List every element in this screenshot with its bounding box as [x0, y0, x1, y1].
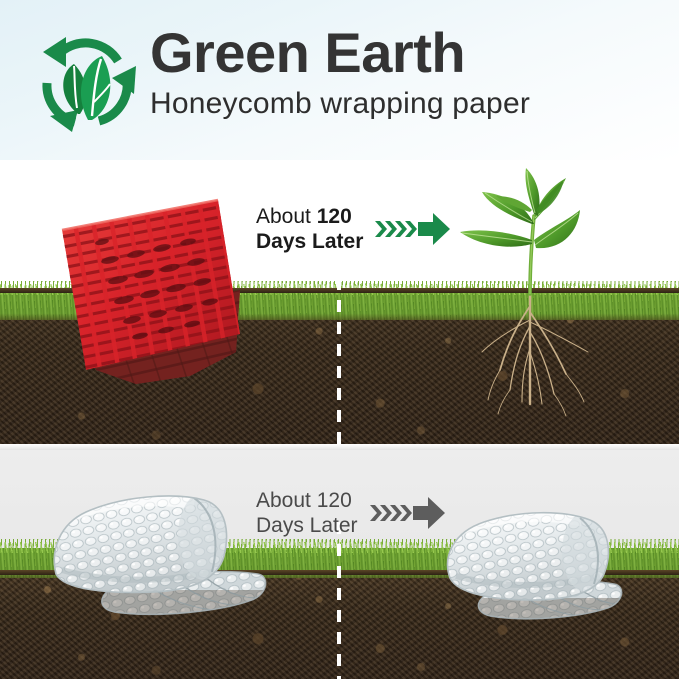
callout-plastic: About 120 Days Later	[256, 488, 446, 538]
callout-days-number-plastic: 120	[317, 489, 352, 512]
callout-prefix-plastic: About	[256, 489, 317, 512]
recycle-leaves-icon	[30, 28, 142, 140]
page-subtitle: Honeycomb wrapping paper	[150, 84, 670, 124]
green-chevron-arrow-icon	[375, 209, 451, 249]
callout-biodegradable: About 120 Days Later	[256, 204, 451, 254]
panel-plastic: About 120 Days Later	[0, 450, 679, 679]
callout-days-number: 120	[317, 205, 352, 228]
green-seedling-plant	[452, 166, 662, 298]
dashed-vertical-divider-top	[337, 278, 341, 448]
callout-line-2: Days Later	[256, 229, 363, 254]
panel-biodegradable: About 120 Days Later	[0, 160, 679, 448]
callout-line-1-plastic: About 120	[256, 488, 358, 513]
page-title: Green Earth	[150, 22, 670, 84]
brand-lockup: Green Earth Honeycomb wrapping paper	[28, 22, 658, 142]
red-honeycomb-wrapping-paper	[40, 184, 260, 414]
callout-prefix: About	[256, 205, 317, 228]
plastic-bubble-wrap-roll-right	[428, 494, 660, 630]
infographic-page: Green Earth Honeycomb wrapping paper	[0, 0, 679, 679]
title-block: Green Earth Honeycomb wrapping paper	[150, 22, 670, 124]
callout-text-green: About 120 Days Later	[256, 204, 363, 254]
gray-chevron-arrow-icon	[370, 493, 446, 533]
header-banner: Green Earth Honeycomb wrapping paper	[0, 0, 679, 160]
callout-text-gray: About 120 Days Later	[256, 488, 358, 538]
dashed-vertical-divider-bottom	[337, 522, 341, 679]
callout-line-2-plastic: Days Later	[256, 513, 358, 538]
callout-line-1: About 120	[256, 204, 363, 229]
